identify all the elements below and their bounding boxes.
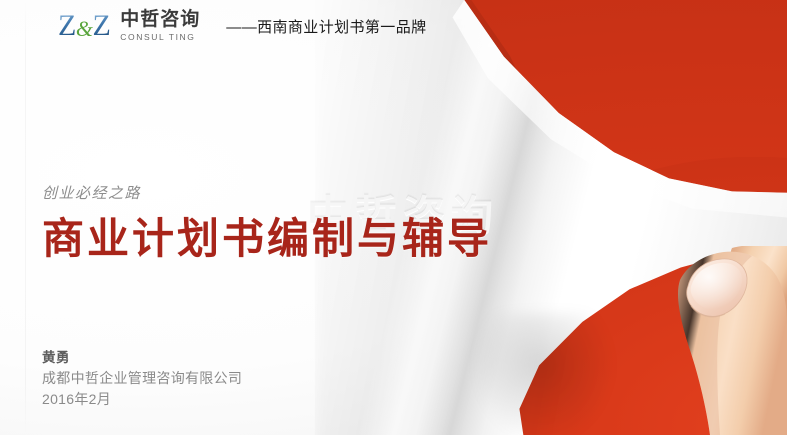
logo-letter-z-left: Z — [58, 9, 76, 42]
company-logo: Z&Z 中哲咨询 CONSUL TING — [58, 10, 200, 42]
logo-zz-mark: Z&Z — [58, 11, 110, 41]
page-title: 商业计划书编制与辅导 — [42, 217, 492, 264]
author-organization: 成都中哲企业管理咨询有限公司 — [42, 368, 242, 389]
logo-ampersand-icon: & — [76, 16, 93, 41]
presentation-date: 2016年2月 — [42, 389, 242, 410]
presentation-slide: Z&Z 中哲咨询 CONSUL TING ——西南商业计划书第一品牌 中哲咨询 … — [0, 0, 787, 435]
header-tagline: ——西南商业计划书第一品牌 — [226, 16, 426, 37]
page-curl-tip-shadow — [472, 313, 614, 435]
author-name: 黄勇 — [42, 348, 242, 368]
slide-eyebrow: 创业必经之路 — [42, 182, 492, 203]
finger-pulling-page — [636, 246, 787, 435]
author-block: 黄勇 成都中哲企业管理咨询有限公司 2016年2月 — [42, 348, 242, 410]
logo-wordmark: 中哲咨询 CONSUL TING — [120, 10, 200, 42]
logo-company-name-cn: 中哲咨询 — [120, 10, 200, 29]
logo-letter-z-right: Z — [92, 9, 110, 42]
logo-company-name-en: CONSUL TING — [120, 33, 200, 42]
title-block: 创业必经之路 商业计划书编制与辅导 — [42, 182, 492, 264]
slide-header: Z&Z 中哲咨询 CONSUL TING ——西南商业计划书第一品牌 — [0, 0, 787, 52]
